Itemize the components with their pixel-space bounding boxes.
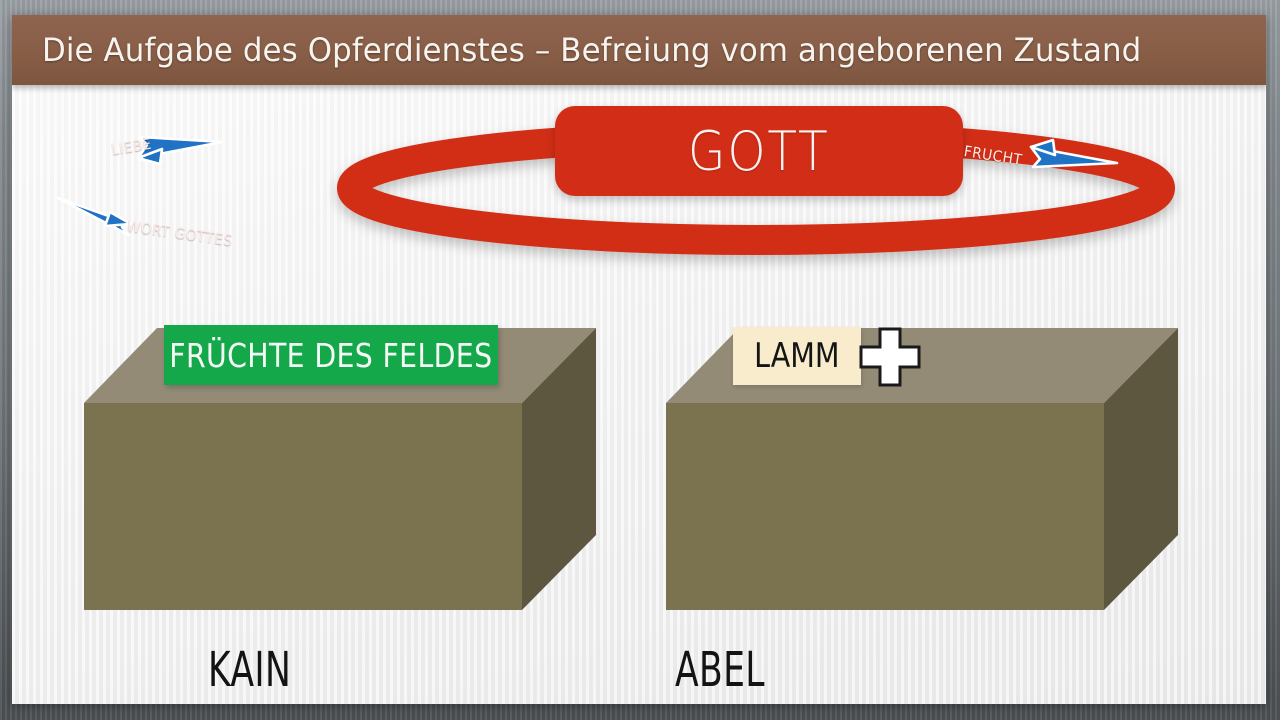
arrow-left-icon-frucht [1031,140,1117,167]
god-cycle-diagram: GOTT LIEBE WORT GOTTES FRUCHT [12,85,1266,275]
plate-label-fruechte: FRÜCHTE DES FELDES [169,336,492,375]
block-front-face [666,403,1104,610]
offering-name-abel: ABEL [675,642,765,698]
page-title: Die Aufgabe des Opferdienstes – Befreiun… [42,15,1210,85]
offering-name-kain: KAIN [208,642,291,698]
cross-icon [857,326,923,388]
block-front-face [84,403,522,610]
label-plate-fruechte: FRÜCHTE DES FELDES [164,325,498,385]
screen-frame: Die Aufgabe des Opferdienstes – Befreiun… [0,0,1280,720]
flow-arrows-group [12,85,1266,275]
label-plate-lamm: LAMM [733,327,861,385]
arrow-right-icon-wort [58,198,131,235]
title-banner: Die Aufgabe des Opferdienstes – Befreiun… [12,15,1266,85]
plate-label-lamm: LAMM [754,336,839,376]
slide-canvas: Die Aufgabe des Opferdienstes – Befreiun… [12,15,1266,704]
